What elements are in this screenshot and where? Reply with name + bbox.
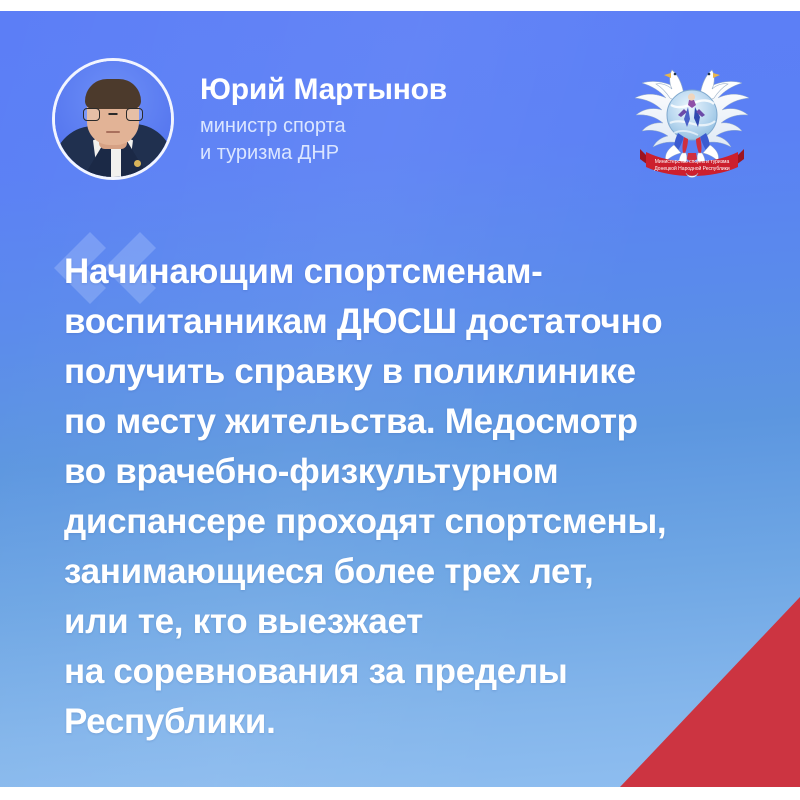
quote-line: диспансере проходят спортсмены, (64, 497, 764, 547)
quote-card: Юрий Мартынов министр спорта и туризма Д… (0, 11, 800, 787)
avatar (52, 58, 174, 180)
speaker-role-line-2: и туризма ДНР (200, 140, 447, 167)
quote-line: занимающиеся более трех лет, (64, 547, 764, 597)
portrait-glasses-right-lens (126, 108, 143, 121)
emblem-ribbon-line-2: Донецкой Народной Республики (654, 165, 730, 172)
portrait-hair (85, 79, 141, 109)
portrait-glasses-bridge (109, 113, 118, 115)
emblem-ribbon-line-1: Министерство спорта и туризма (655, 159, 730, 165)
quote-line: Начинающим спортсменам- (64, 247, 764, 297)
screenshot-root: Юрий Мартынов министр спорта и туризма Д… (0, 0, 800, 800)
quote-line: на соревнования за пределы (64, 647, 764, 697)
quote-line: Республики. (64, 697, 764, 747)
portrait-mouth (106, 131, 120, 133)
quote-text: Начинающим спортсменам- воспитанникам ДЮ… (64, 247, 764, 747)
quote-line: воспитанникам ДЮСШ достаточно (64, 297, 764, 347)
speaker-identity: Юрий Мартынов министр спорта и туризма Д… (200, 73, 447, 167)
avatar-portrait-image (55, 61, 171, 177)
quote-line: или те, кто выезжает (64, 597, 764, 647)
quote-line: по месту жительства. Медосмотр (64, 397, 764, 447)
quote-line: получить справку в поликлинике (64, 347, 764, 397)
portrait-glasses-left-lens (83, 108, 100, 121)
speaker-role-line-1: министр спорта (200, 113, 447, 140)
ministry-emblem-icon: Министерство спорта и туризма Донецкой Н… (626, 53, 758, 181)
quote-line: во врачебно-физкультурном (64, 447, 764, 497)
portrait-lapel-pin (134, 160, 141, 167)
speaker-name: Юрий Мартынов (200, 73, 447, 106)
